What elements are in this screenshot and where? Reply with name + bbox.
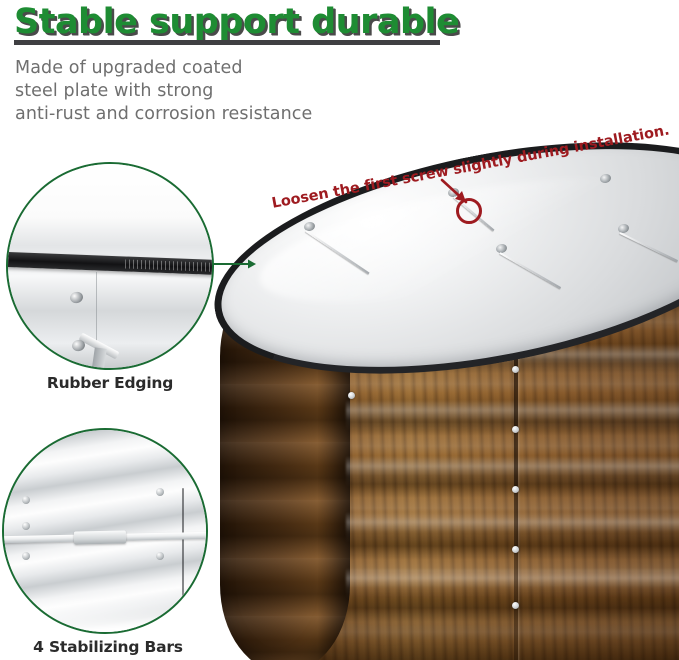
- callout-rubber-edging: Rubber Edging: [6, 162, 214, 394]
- macro-wire: [182, 488, 184, 596]
- callout-caption-stabilizing-bars: 4 Stabilizing Bars: [2, 638, 214, 656]
- macro-screw: [156, 488, 164, 496]
- body-screw: [512, 486, 519, 493]
- body-screw: [348, 392, 355, 399]
- macro-screw: [22, 496, 30, 504]
- callout-caption-rubber-edging: Rubber Edging: [6, 374, 214, 392]
- product-feature-image: Stable support durable Made of upgraded …: [0, 0, 679, 660]
- macro-bar-turnbuckle: [74, 530, 126, 544]
- highlighted-screw-marker: [456, 198, 482, 224]
- page-title: Stable support durable: [14, 2, 459, 42]
- macro-screw: [156, 552, 164, 560]
- body-screw: [512, 546, 519, 553]
- body-screw: [512, 602, 519, 609]
- callout-circle-2: [2, 428, 208, 634]
- subtitle-text: Made of upgraded coated steel plate with…: [15, 57, 435, 126]
- headline-block: Stable support durable: [14, 2, 454, 50]
- macro-screw: [22, 522, 30, 530]
- product-illustration: [196, 140, 679, 660]
- body-screw: [512, 366, 519, 373]
- headline-underline: [14, 40, 440, 45]
- callout-circle-1: [6, 162, 214, 370]
- callout-stabilizing-bars: 4 Stabilizing Bars: [2, 428, 214, 658]
- macro-screw: [22, 552, 30, 560]
- body-screw: [512, 426, 519, 433]
